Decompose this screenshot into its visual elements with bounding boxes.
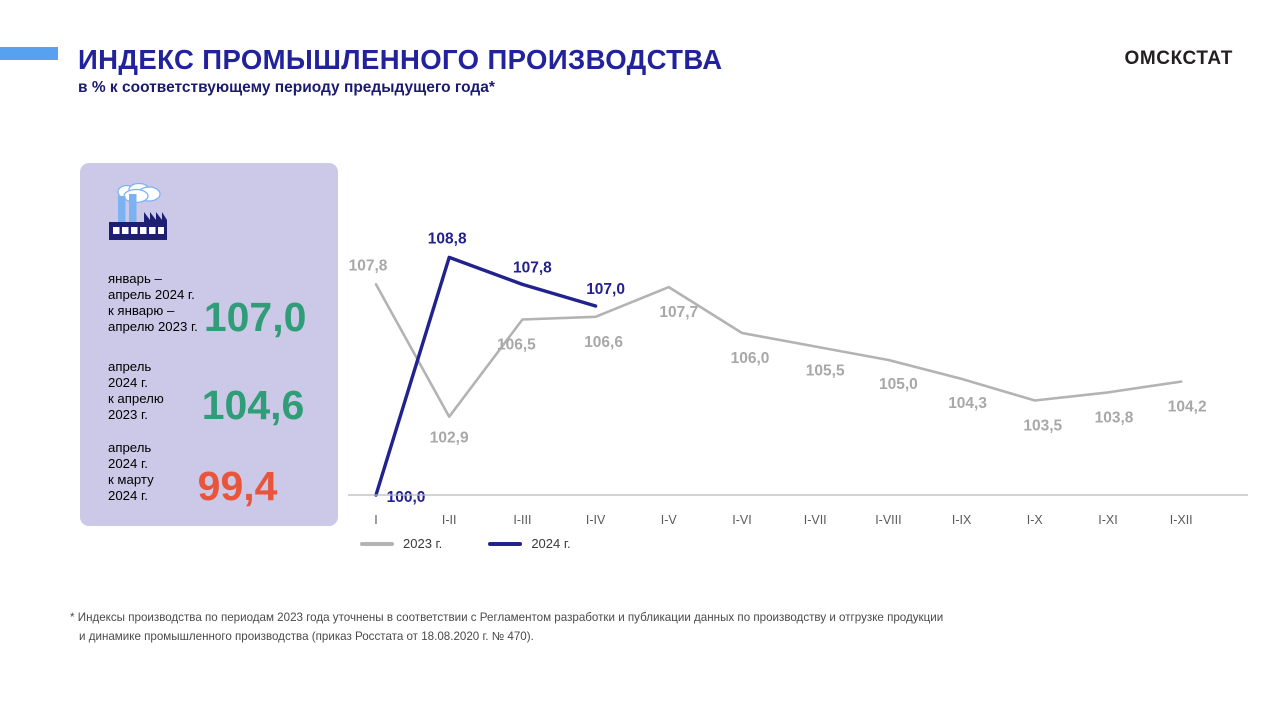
x-axis-tick-labels: II-III-IIII-IVI-VI-VII-VIII-VIIII-IXI-XI… — [374, 513, 1192, 527]
page-subtitle: в % к соответствующему периоду предыдуще… — [78, 79, 495, 97]
data-point-label: 107,8 — [349, 257, 388, 274]
brand-logo: ОМСКСТАТ — [1124, 48, 1233, 70]
summary-card: январь – апрель 2024 г. к январю – апрел… — [80, 163, 338, 526]
stat-row: январь – апрель 2024 г. к январю – апрел… — [80, 271, 338, 335]
footnote: * Индексы производства по периодам 2023 … — [70, 608, 1110, 646]
x-axis-tick-label: I-III — [513, 513, 531, 527]
x-axis-tick-label: I — [374, 513, 377, 527]
stat-label: апрель 2024 г. к апрелю 2023 г. — [108, 359, 164, 423]
stat-label: апрель 2024 г. к марту 2024 г. — [108, 440, 154, 504]
data-point-label: 104,2 — [1168, 399, 1207, 416]
x-axis-tick-label: I-VI — [732, 513, 751, 527]
accent-bar — [0, 47, 58, 60]
value-labels-layer: 107,8102,9106,5106,6107,7106,0105,5105,0… — [349, 230, 1207, 506]
legend-swatch — [360, 542, 394, 546]
data-point-label: 105,0 — [879, 376, 918, 393]
data-point-label: 108,8 — [428, 230, 467, 247]
series-layer — [376, 257, 1181, 495]
stat-value: 104,6 — [202, 385, 305, 426]
x-axis-tick-label: I-X — [1027, 513, 1044, 527]
chart-svg: 107,8102,9106,5106,6107,7106,0105,5105,0… — [348, 150, 1248, 570]
x-axis-tick-label: I-II — [442, 513, 457, 527]
data-point-label: 103,8 — [1095, 409, 1134, 426]
data-point-label: 107,8 — [513, 259, 552, 276]
x-axis-tick-label: I-XII — [1170, 513, 1193, 527]
legend-swatch — [488, 542, 522, 546]
x-axis-tick-label: I-VIII — [875, 513, 901, 527]
data-point-label: 102,9 — [430, 430, 469, 447]
chart-legend: 2023 г. 2024 г. — [360, 536, 571, 551]
stat-row: апрель 2024 г. к апрелю 2023 г. 104,6 — [80, 359, 338, 423]
x-axis-tick-label: I-IX — [952, 513, 972, 527]
data-point-label: 106,0 — [731, 350, 770, 367]
data-point-label: 106,5 — [497, 337, 536, 354]
line-chart: 107,8102,9106,5106,6107,7106,0105,5105,0… — [348, 150, 1248, 570]
data-point-label: 105,5 — [806, 363, 845, 380]
footnote-line-1: * Индексы производства по периодам 2023 … — [70, 611, 943, 624]
stat-label: январь – апрель 2024 г. к январю – апрел… — [108, 271, 198, 335]
stat-value: 99,4 — [198, 466, 278, 507]
x-axis-tick-label: I-IV — [586, 513, 606, 527]
data-point-label: 107,7 — [659, 304, 698, 321]
data-point-label: 107,0 — [586, 281, 625, 298]
series-line-2024-г. — [376, 257, 596, 495]
stat-value: 107,0 — [204, 297, 307, 338]
legend-item-2023[interactable]: 2023 г. — [360, 536, 442, 551]
stat-row: апрель 2024 г. к марту 2024 г. 99,4 — [80, 440, 338, 504]
footnote-line-2: и динамике промышленного производства (п… — [70, 627, 1110, 646]
x-axis-tick-label: I-VII — [804, 513, 827, 527]
x-axis-tick-label: I-V — [661, 513, 678, 527]
x-axis-tick-label: I-XI — [1098, 513, 1117, 527]
page-title: ИНДЕКС ПРОМЫШЛЕННОГО ПРОИЗВОДСТВА — [78, 44, 723, 76]
legend-item-2024[interactable]: 2024 г. — [488, 536, 570, 551]
factory-icon — [103, 182, 173, 253]
data-point-label: 104,3 — [948, 395, 987, 412]
data-point-label: 100,0 — [387, 489, 426, 506]
data-point-label: 106,6 — [584, 334, 623, 351]
data-point-label: 103,5 — [1023, 418, 1062, 435]
legend-label: 2024 г. — [531, 536, 570, 551]
legend-label: 2023 г. — [403, 536, 442, 551]
